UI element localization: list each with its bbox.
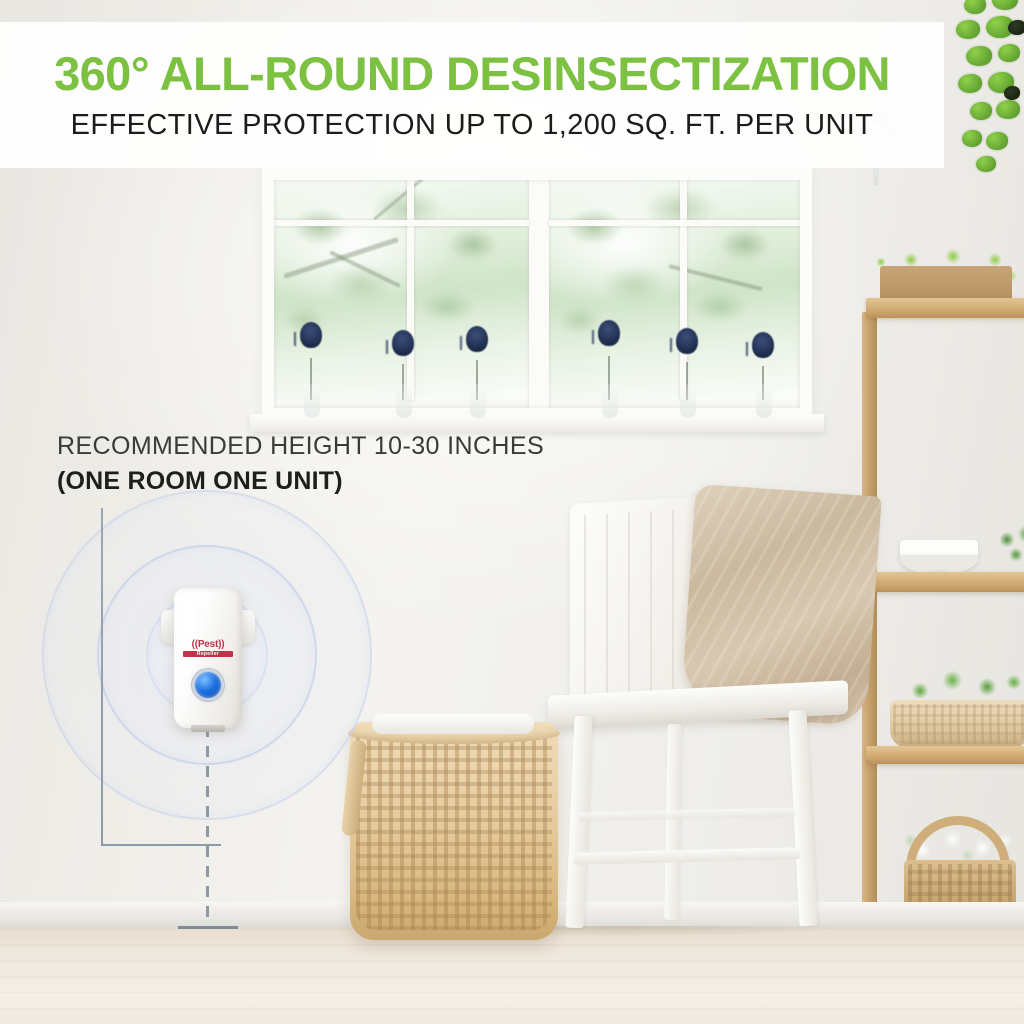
device-plug-prong xyxy=(191,725,225,732)
shelf-green-plant xyxy=(992,520,1024,576)
thistle-vase xyxy=(466,326,488,418)
recommended-height-line2: (ONE ROOM ONE UNIT) xyxy=(57,467,544,496)
thistle-vase xyxy=(598,320,620,418)
window xyxy=(262,168,812,420)
window-mullion xyxy=(549,220,800,226)
window-center-post xyxy=(529,168,549,420)
drop-dashed-line xyxy=(206,726,209,928)
pest-repeller-device[interactable]: ((Pest)) Repeller xyxy=(163,588,253,728)
height-measure-baseline xyxy=(101,844,221,846)
white-bowl xyxy=(900,540,978,574)
rattan-basket xyxy=(350,722,558,940)
window-sill xyxy=(250,414,824,432)
chair-rung xyxy=(574,847,800,865)
wooden-shelf-unit xyxy=(862,288,1024,938)
basket-cloth xyxy=(372,714,534,734)
hanging-plant xyxy=(952,0,1024,180)
drop-line-floor-tick xyxy=(178,926,238,929)
product-scene: ((Pest)) Repeller RECOMMENDED HEIGHT 10-… xyxy=(0,0,1024,1024)
device-logo: ((Pest)) Repeller xyxy=(183,640,233,657)
chair-leg xyxy=(565,716,592,929)
shelf-basket-greens xyxy=(890,700,1024,748)
thistle-vase xyxy=(300,322,322,418)
thistle-vase xyxy=(676,328,698,418)
recommended-height-label: RECOMMENDED HEIGHT 10-30 INCHES (ONE ROO… xyxy=(57,432,544,496)
window-mullion xyxy=(274,220,529,226)
chair-rung xyxy=(578,808,796,822)
thistle-vase xyxy=(392,330,414,418)
chair-leg xyxy=(788,710,817,927)
shelf-board-middle xyxy=(866,572,1024,592)
device-body xyxy=(174,588,242,728)
wooden-chair xyxy=(548,498,868,938)
banner-subline: EFFECTIVE PROTECTION UP TO 1,200 SQ. FT.… xyxy=(71,111,874,140)
banner-headline: 360° ALL-ROUND DESINSECTIZATION xyxy=(54,50,890,97)
thistle-vase xyxy=(752,332,774,418)
height-measure-line xyxy=(101,508,103,846)
device-logo-top: ((Pest)) xyxy=(183,640,233,650)
chair-leg xyxy=(664,724,681,920)
shelf-board-lower xyxy=(866,746,1024,764)
device-logo-bottom: Repeller xyxy=(183,651,233,657)
shelf-board-top xyxy=(866,298,1024,318)
device-led-indicator[interactable] xyxy=(195,672,221,698)
recommended-height-line1: RECOMMENDED HEIGHT 10-30 INCHES xyxy=(57,432,544,461)
top-banner: 360° ALL-ROUND DESINSECTIZATION EFFECTIV… xyxy=(0,22,944,168)
